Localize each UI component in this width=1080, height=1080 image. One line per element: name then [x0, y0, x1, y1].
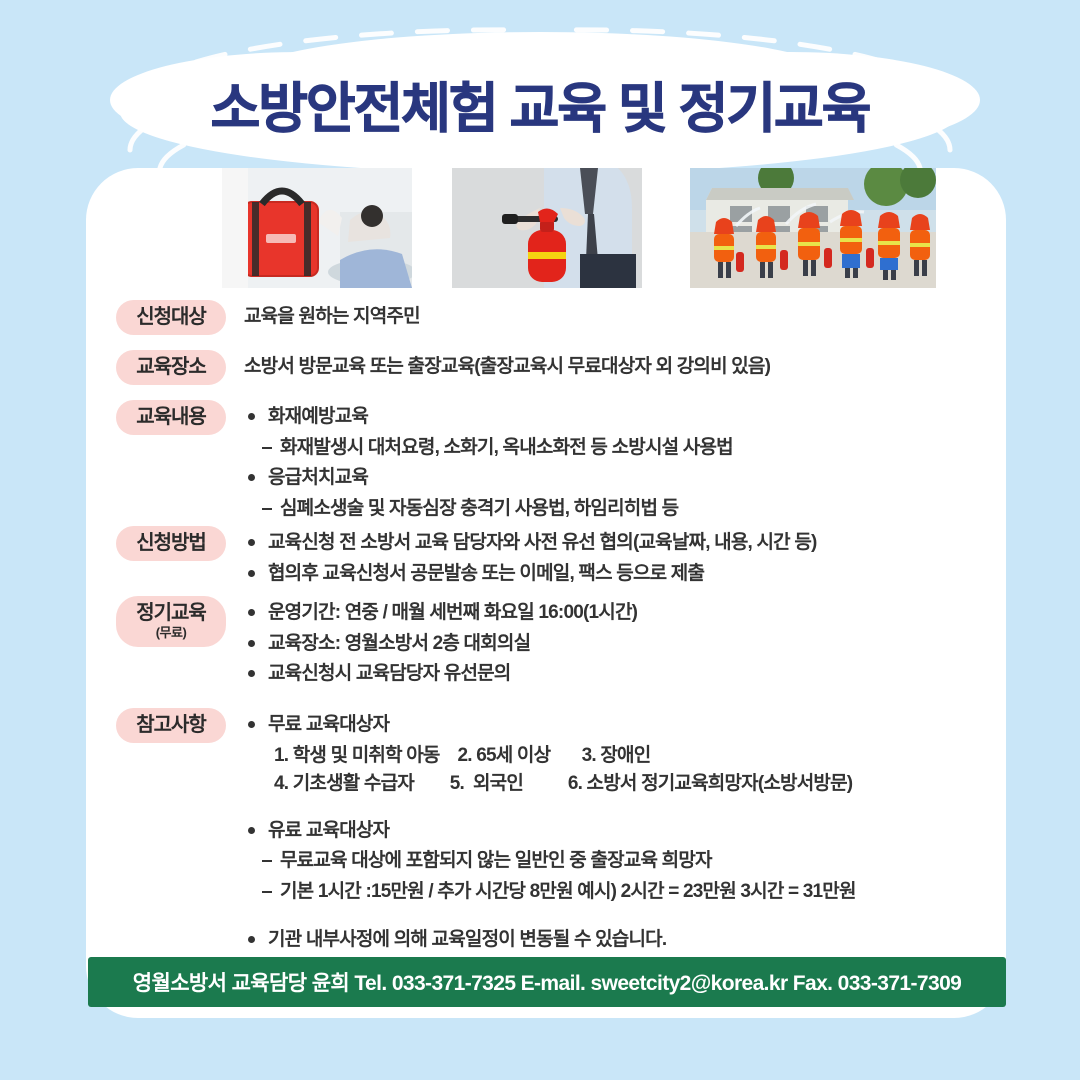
list-item: 협의후 교육신청서 공문발송 또는 이메일, 팩스 등으로 제출 — [244, 560, 986, 589]
label-regular-education-text: 정기교육 — [136, 602, 206, 624]
list-item: 운영기간: 연중 / 매월 세번째 화요일 16:00(1시간) — [244, 599, 986, 628]
row-regular-education-body: 운영기간: 연중 / 매월 세번째 화요일 16:00(1시간) 교육장소: 영… — [244, 596, 986, 691]
notes-paid-heading: 유료 교육대상자 — [244, 817, 986, 846]
notes-spacer-2 — [244, 908, 986, 926]
row-application-target: 신청대상 교육을 원하는 지역주민 — [116, 300, 986, 335]
label-application-target-text: 신청대상 — [136, 306, 206, 328]
row-application-method-body: 교육신청 전 소방서 교육 담당자와 사전 유선 협의(교육날짜, 내용, 시간… — [244, 526, 986, 590]
notes-paid-line-2: 기본 1시간 :15만원 / 추가 시간당 8만원 예시) 2시간 = 23만원… — [244, 878, 986, 907]
label-notes-text: 참고사항 — [136, 714, 206, 736]
list-item: 화재발생시 대처요령, 소화기, 옥내소화전 등 소방시설 사용법 — [244, 434, 986, 463]
footer-contact-text: 영월소방서 교육담당 윤희 Tel. 033-371-7325 E-mail. … — [133, 967, 961, 997]
label-education-place: 교육장소 — [116, 350, 226, 385]
footer-contact-bar: 영월소방서 교육담당 윤희 Tel. 033-371-7325 E-mail. … — [88, 957, 1006, 1007]
list-item: 교육신청시 교육담당자 유선문의 — [244, 660, 986, 689]
label-regular-education: 정기교육 (무료) — [116, 596, 226, 647]
notes-free-list-line-1: 1. 학생 및 미취학 아동 2. 65세 이상 3. 장애인 — [244, 742, 986, 771]
label-education-place-text: 교육장소 — [136, 356, 206, 378]
list-item: 교육신청 전 소방서 교육 담당자와 사전 유선 협의(교육날짜, 내용, 시간… — [244, 529, 986, 558]
education-place-text: 소방서 방문교육 또는 출장교육(출장교육시 무료대상자 외 강의비 있음) — [244, 353, 986, 382]
notes-paid-line-1: 무료교육 대상에 포함되지 않는 일반인 중 출장교육 희망자 — [244, 847, 986, 876]
row-education-content: 교육내용 화재예방교육 화재발생시 대처요령, 소화기, 옥내소화전 등 소방시… — [116, 400, 986, 525]
label-regular-education-sub: (무료) — [116, 626, 226, 641]
notes-closing: 기관 내부사정에 의해 교육일정이 변동될 수 있습니다. — [244, 926, 986, 955]
list-item: 화재예방교육 — [244, 403, 986, 432]
row-notes-body: 무료 교육대상자 1. 학생 및 미취학 아동 2. 65세 이상 3. 장애인… — [244, 708, 986, 957]
label-application-method-text: 신청방법 — [136, 532, 206, 554]
row-application-method: 신청방법 교육신청 전 소방서 교육 담당자와 사전 유선 협의(교육날짜, 내… — [116, 526, 986, 590]
content-card: 신청대상 교육을 원하는 지역주민 교육장소 소방서 방문교육 또는 출장교육(… — [86, 168, 1006, 1018]
row-application-target-body: 교육을 원하는 지역주민 — [244, 300, 986, 332]
row-education-place: 교육장소 소방서 방문교육 또는 출장교육(출장교육시 무료대상자 외 강의비 … — [116, 350, 986, 385]
list-item: 교육장소: 영월소방서 2층 대회의실 — [244, 630, 986, 659]
label-education-content-text: 교육내용 — [136, 406, 206, 428]
notes-free-list-line-2: 4. 기초생활 수급자 5. 외국인 6. 소방서 정기교육희망자(소방서방문) — [244, 770, 986, 799]
poster-header: 소방안전체험 교육 및 정기교육 — [0, 0, 1080, 180]
row-education-place-body: 소방서 방문교육 또는 출장교육(출장교육시 무료대상자 외 강의비 있음) — [244, 350, 986, 382]
label-application-method: 신청방법 — [116, 526, 226, 561]
row-regular-education: 정기교육 (무료) 운영기간: 연중 / 매월 세번째 화요일 16:00(1시… — [116, 596, 986, 691]
page-title: 소방안전체험 교육 및 정기교육 — [0, 82, 1080, 136]
label-notes: 참고사항 — [116, 708, 226, 743]
row-education-content-body: 화재예방교육 화재발생시 대처요령, 소화기, 옥내소화전 등 소방시설 사용법… — [244, 400, 986, 525]
photo-strip — [222, 168, 982, 292]
list-item: 응급처치교육 — [244, 464, 986, 493]
row-notes: 참고사항 무료 교육대상자 1. 학생 및 미취학 아동 2. 65세 이상 3… — [116, 708, 986, 957]
label-education-content: 교육내용 — [116, 400, 226, 435]
list-item: 심폐소생술 및 자동심장 충격기 사용법, 하임리히법 등 — [244, 495, 986, 524]
photo-fire-extinguisher — [452, 168, 642, 288]
notes-free-heading: 무료 교육대상자 — [244, 711, 986, 740]
notes-spacer — [244, 799, 986, 817]
photo-children-firefighters — [690, 168, 936, 288]
photo-first-aid-kit — [222, 168, 412, 288]
label-application-target: 신청대상 — [116, 300, 226, 335]
application-target-text: 교육을 원하는 지역주민 — [244, 303, 986, 332]
